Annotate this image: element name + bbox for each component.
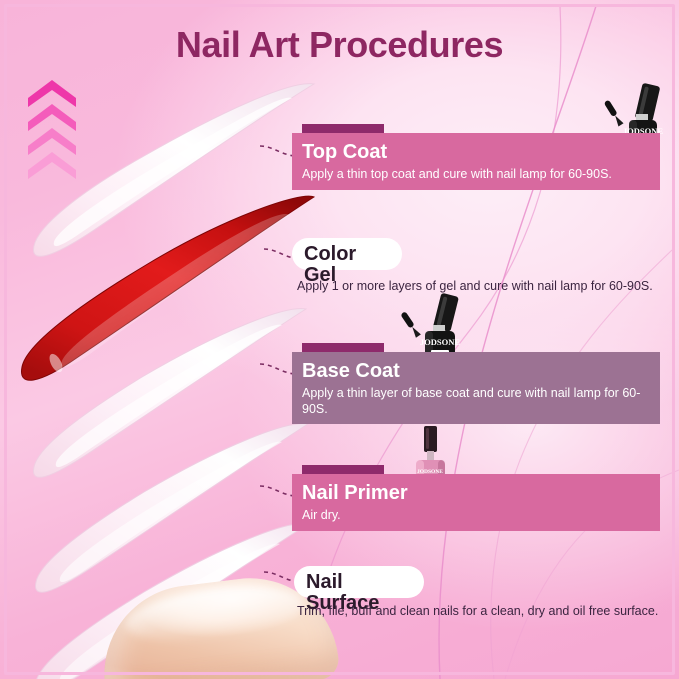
- step-band-nail-primer[interactable]: Nail Primer Air dry.: [292, 474, 660, 531]
- step-title-base-coat: Base Coat: [302, 361, 660, 381]
- step-pill-color-gel[interactable]: Color Gel: [292, 238, 402, 270]
- step-band-base-coat[interactable]: Base Coat Apply a thin layer of base coa…: [292, 352, 660, 424]
- step-title-nail-primer: Nail Primer: [302, 483, 660, 503]
- step-band-top-coat[interactable]: Top Coat Apply a thin top coat and cure …: [292, 133, 660, 190]
- step-desc-nail-primer: Air dry.: [302, 508, 660, 524]
- bottle-brand-text: JODSONE: [420, 337, 460, 347]
- accent-bar-nail-primer: [302, 465, 384, 474]
- step-desc-nail-surface: Trim, file, buff and clean nails for a c…: [297, 604, 667, 620]
- step-desc-base-coat: Apply a thin layer of base coat and cure…: [302, 386, 660, 417]
- step-title-top-coat: Top Coat: [302, 142, 660, 162]
- poster: Nail Art Procedures: [0, 0, 679, 679]
- step-desc-top-coat: Apply a thin top coat and cure with nail…: [302, 167, 660, 183]
- accent-bar-top-coat: [302, 124, 384, 133]
- step-pill-nail-surface[interactable]: Nail Surface: [294, 566, 424, 598]
- accent-bar-base-coat: [302, 343, 384, 352]
- page-title: Nail Art Procedures: [0, 24, 679, 66]
- step-desc-color-gel: Apply 1 or more layers of gel and cure w…: [297, 279, 667, 295]
